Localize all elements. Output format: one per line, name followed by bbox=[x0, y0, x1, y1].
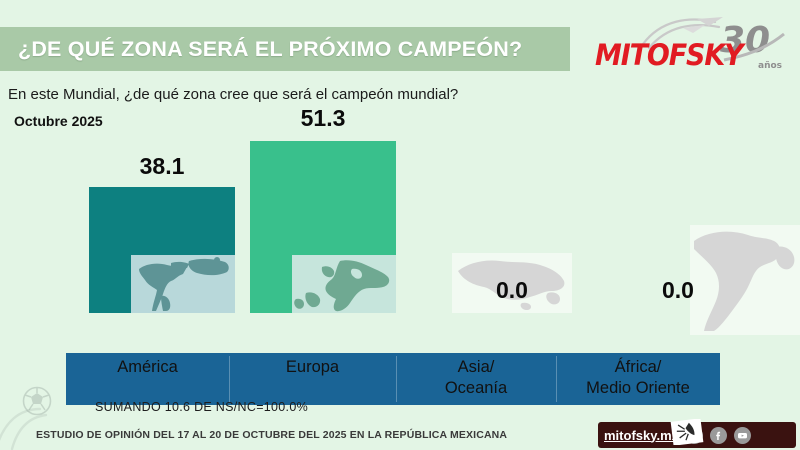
mitofsky-logo: 30 años MITOFSKY bbox=[587, 12, 792, 74]
category-line-1: Europa bbox=[286, 357, 339, 378]
category-line-1: Asia/ bbox=[458, 357, 495, 378]
title-band: ¿DE QUÉ ZONA SERÁ EL PRÓXIMO CAMPEÓN? bbox=[0, 27, 570, 71]
category-label-asia: Asia/ Oceanía bbox=[396, 353, 556, 405]
category-label-africa: África/ Medio Oriente bbox=[556, 353, 720, 405]
bar-column-america: 38.1 bbox=[89, 187, 235, 313]
social-bar[interactable]: mitofsky.mx bbox=[598, 422, 796, 448]
category-line-1: América bbox=[117, 357, 178, 378]
leaf-overlay-icon bbox=[670, 419, 704, 445]
svg-text:años: años bbox=[758, 61, 782, 71]
question-subtitle: En este Mundial, ¿de qué zona cree que s… bbox=[8, 86, 458, 103]
sumando-note: SUMANDO 10.6 DE NS/NC=100.0% bbox=[95, 400, 308, 414]
category-label-europa: Europa bbox=[229, 353, 396, 405]
bar-value-europa: 51.3 bbox=[250, 105, 396, 132]
category-line-2: Medio Oriente bbox=[586, 378, 690, 399]
category-line-1: África/ bbox=[615, 357, 662, 378]
page-title: ¿DE QUÉ ZONA SERÁ EL PRÓXIMO CAMPEÓN? bbox=[0, 37, 522, 62]
survey-period: Octubre 2025 bbox=[14, 113, 103, 129]
facebook-icon[interactable] bbox=[710, 427, 727, 444]
youtube-icon[interactable] bbox=[734, 427, 751, 444]
category-band: América Europa Asia/ Oceanía África/ Med… bbox=[66, 353, 720, 405]
logo-wordmark: MITOFSKY bbox=[595, 38, 743, 72]
category-line-2: Oceanía bbox=[445, 378, 507, 399]
swoosh-watermark-icon bbox=[0, 405, 94, 450]
map-americas-icon bbox=[131, 255, 235, 313]
map-europe-icon bbox=[292, 255, 396, 313]
bar-column-europa: 51.3 bbox=[250, 141, 396, 313]
slide-canvas: ¿DE QUÉ ZONA SERÁ EL PRÓXIMO CAMPEÓN? En… bbox=[0, 0, 800, 450]
site-url-link[interactable]: mitofsky.mx bbox=[604, 428, 679, 443]
category-label-america: América bbox=[66, 353, 229, 405]
bar-value-america: 38.1 bbox=[89, 153, 235, 180]
bar-value-asia: 0.0 bbox=[452, 277, 572, 304]
bar-value-africa: 0.0 bbox=[618, 277, 738, 304]
study-note: ESTUDIO DE OPINIÓN DEL 17 AL 20 DE OCTUB… bbox=[36, 429, 507, 441]
